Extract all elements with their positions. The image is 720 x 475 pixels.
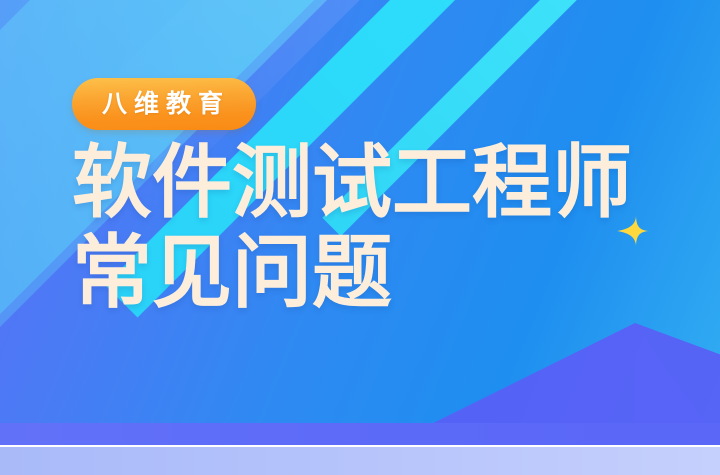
brand-badge-label: 八维教育: [102, 92, 230, 117]
four-point-star-icon: [616, 214, 650, 248]
page-title-line-1: 软件测试工程师: [72, 138, 632, 228]
brand-badge[interactable]: 八维教育: [72, 78, 256, 130]
page-title: 软件测试工程师 常见问题: [72, 138, 632, 317]
page-title-line-2: 常见问题: [72, 228, 632, 318]
promo-banner: 八维教育 软件测试工程师 常见问题: [0, 0, 720, 475]
